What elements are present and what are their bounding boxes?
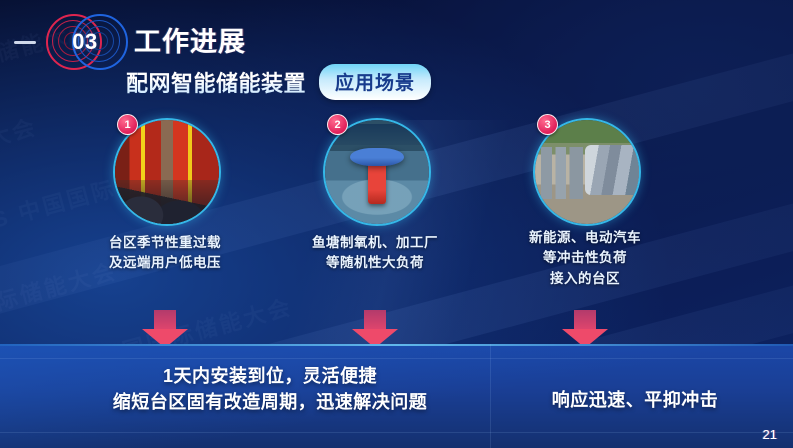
page-title: 工作进展 — [134, 20, 246, 59]
card-caption-line: 台区季节性重过载 — [60, 233, 270, 253]
down-arrow-icon — [352, 310, 398, 348]
card-image-wrap: 3 — [533, 118, 637, 222]
card-number-badge: 1 — [117, 114, 138, 135]
conclusion-line: 响应迅速、平抑冲击 — [500, 388, 770, 414]
conclusion-line: 缩短台区固有改造周期，迅速解决问题 — [60, 390, 480, 416]
panel-gridline — [0, 432, 793, 433]
card-caption: 台区季节性重过载 及远端用户低电压 — [60, 233, 270, 274]
card-caption: 鱼塘制氧机、加工厂 等随机性大负荷 — [270, 233, 480, 274]
scenario-card-3[interactable]: 3 新能源、电动汽车 等冲击性负荷 接入的台区 — [480, 118, 690, 289]
subtitle-row: 配网智能储能装置 应用场景 — [126, 64, 431, 100]
pond-aerator-photo — [325, 120, 429, 224]
card-caption-line: 鱼塘制氧机、加工厂 — [270, 233, 480, 253]
card-image-wrap: 2 — [323, 118, 427, 222]
card-caption-line: 接入的台区 — [480, 269, 690, 289]
conclusion-line: 1天内安装到位，灵活便捷 — [60, 364, 480, 390]
scenario-card-list: 1 台区季节性重过载 及远端用户低电压 2 鱼塘制氧机、加工厂 等随机性大负荷 — [0, 118, 793, 308]
accent-dash — [14, 41, 36, 44]
festive-market-photo — [115, 120, 219, 224]
section-number-text: 03 — [42, 14, 128, 70]
scenario-card-2[interactable]: 2 鱼塘制氧机、加工厂 等随机性大负荷 — [270, 118, 480, 274]
scenario-card-1[interactable]: 1 台区季节性重过载 及远端用户低电压 — [60, 118, 270, 274]
panel-gridline — [0, 358, 793, 359]
panel-top-edge — [0, 344, 793, 346]
page-subtitle: 配网智能储能装置 — [126, 66, 306, 98]
conclusion-text-left: 1天内安装到位，灵活便捷 缩短台区固有改造周期，迅速解决问题 — [60, 364, 480, 415]
card-image-wrap: 1 — [113, 118, 217, 222]
card-caption: 新能源、电动汽车 等冲击性负荷 接入的台区 — [480, 228, 690, 289]
slide-root: CIES 中国国际储能大会 CIES 中国国际储能大会 CIES 中国国际储能大… — [0, 0, 793, 448]
down-arrow-icon — [142, 310, 188, 348]
status-badge[interactable]: 应用场景 — [319, 64, 431, 100]
section-number-logo: 03 — [42, 14, 128, 70]
slide-header: 03 工作进展 配网智能储能装置 应用场景 — [0, 0, 793, 112]
card-number-badge: 3 — [537, 114, 558, 135]
page-number: 21 — [763, 427, 777, 442]
card-caption-line: 及远端用户低电压 — [60, 253, 270, 273]
conclusion-panel: 1天内安装到位，灵活便捷 缩短台区固有改造周期，迅速解决问题 响应迅速、平抑冲击 — [0, 344, 793, 448]
panel-divider — [490, 344, 491, 448]
card-number-badge: 2 — [327, 114, 348, 135]
ev-charging-photo — [535, 120, 639, 224]
card-caption-line: 新能源、电动汽车 — [480, 228, 690, 248]
card-caption-line: 等随机性大负荷 — [270, 253, 480, 273]
card-caption-line: 等冲击性负荷 — [480, 248, 690, 268]
down-arrow-icon — [562, 310, 608, 348]
conclusion-text-right: 响应迅速、平抑冲击 — [500, 388, 770, 414]
